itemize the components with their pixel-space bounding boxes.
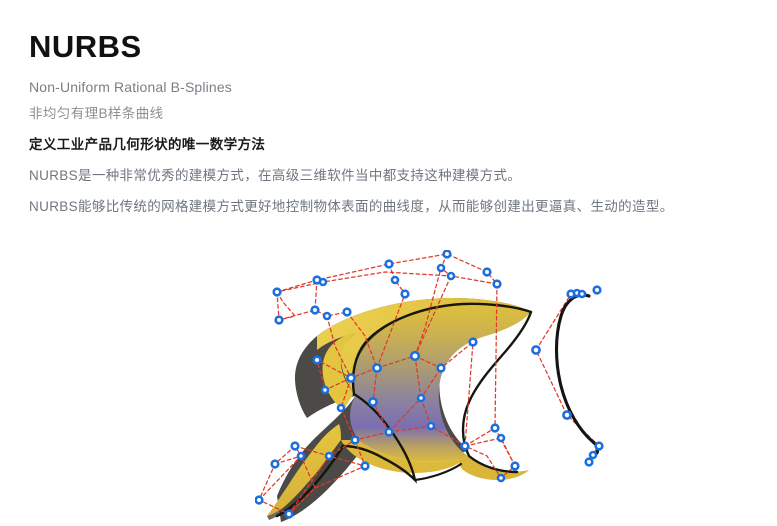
control-point[interactable] — [312, 307, 319, 314]
control-point[interactable] — [276, 317, 283, 324]
control-point[interactable] — [392, 277, 398, 283]
control-point[interactable] — [512, 463, 519, 470]
control-point[interactable] — [596, 443, 603, 450]
control-point[interactable] — [402, 291, 409, 298]
control-point[interactable] — [322, 387, 328, 393]
nurbs-surface-group — [256, 251, 531, 522]
article-text-block: NURBS Non-Uniform Rational B-Splines 非均匀… — [29, 28, 759, 227]
control-point[interactable] — [444, 251, 451, 258]
curve-control-polygon — [536, 294, 599, 456]
control-point[interactable] — [314, 357, 321, 364]
control-point[interactable] — [386, 261, 393, 268]
control-point[interactable] — [292, 443, 299, 450]
control-point[interactable] — [324, 313, 330, 319]
control-point[interactable] — [298, 453, 304, 459]
control-point[interactable] — [532, 346, 539, 353]
lead-statement: 定义工业产品几何形状的唯一数学方法 — [29, 135, 759, 155]
subtitle-chinese: 非均匀有理B样条曲线 — [29, 104, 759, 124]
control-point[interactable] — [586, 459, 593, 466]
nurbs-curve-group — [532, 287, 602, 466]
control-point[interactable] — [418, 395, 424, 401]
control-point[interactable] — [563, 411, 570, 418]
nurbs-illustration — [255, 250, 655, 525]
page-title: NURBS — [29, 28, 759, 66]
control-point[interactable] — [411, 352, 419, 360]
control-point[interactable] — [326, 453, 332, 459]
curve-control-points[interactable] — [532, 287, 602, 466]
control-point[interactable] — [274, 289, 281, 296]
control-point[interactable] — [492, 425, 499, 432]
control-point[interactable] — [428, 423, 434, 429]
control-point[interactable] — [352, 437, 359, 444]
control-point[interactable] — [594, 287, 601, 294]
control-point[interactable] — [462, 443, 469, 450]
control-point[interactable] — [386, 429, 393, 436]
nurbs-figure — [255, 250, 655, 525]
body-paragraph-2: NURBS能够比传统的网格建模方式更好地控制物体表面的曲线度，从而能够创建出更逼… — [29, 196, 759, 217]
control-point[interactable] — [590, 452, 596, 458]
control-point[interactable] — [494, 281, 501, 288]
control-point[interactable] — [320, 279, 326, 285]
control-point[interactable] — [286, 511, 293, 518]
control-point[interactable] — [438, 265, 444, 271]
control-point[interactable] — [338, 405, 344, 411]
subtitle-english: Non-Uniform Rational B-Splines — [29, 77, 759, 97]
control-point[interactable] — [347, 374, 354, 381]
control-point[interactable] — [272, 461, 279, 468]
body-paragraph-1: NURBS是一种非常优秀的建模方式，在高级三维软件当中都支持这种建模方式。 — [29, 165, 759, 186]
control-point[interactable] — [470, 339, 477, 346]
control-point[interactable] — [579, 291, 585, 297]
control-point[interactable] — [498, 435, 504, 441]
control-point[interactable] — [369, 398, 376, 405]
control-point[interactable] — [484, 269, 491, 276]
curve-path — [557, 295, 598, 453]
control-point[interactable] — [373, 364, 380, 371]
control-point[interactable] — [438, 365, 445, 372]
control-point[interactable] — [362, 463, 369, 470]
control-point[interactable] — [344, 309, 351, 316]
control-point[interactable] — [498, 475, 504, 481]
control-point[interactable] — [256, 497, 263, 504]
control-point[interactable] — [448, 273, 454, 279]
